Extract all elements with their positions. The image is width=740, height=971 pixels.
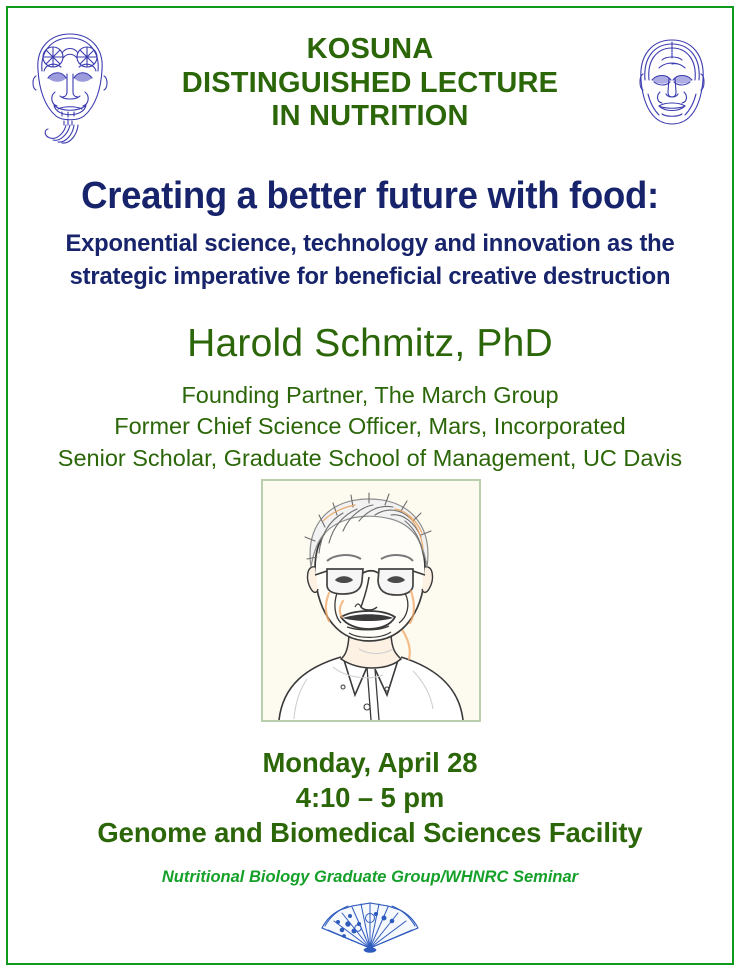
lecture-subtitle-line-2: strategic imperative for beneficial crea…	[29, 261, 712, 294]
lecture-poster: KOSUNA DISTINGUISHED LECTURE IN NUTRITIO…	[0, 0, 740, 971]
speaker-portrait	[261, 479, 481, 722]
speaker-name: Harold Schmitz, PhD	[0, 322, 740, 366]
lecture-subtitle: Exponential science, technology and inno…	[29, 228, 712, 293]
speaker-affiliation-1: Founding Partner, The March Group	[10, 380, 730, 411]
footer-note: Nutritional Biology Graduate Group/WHNRC…	[0, 868, 740, 887]
heading-line-2: DISTINGUISHED LECTURE	[0, 67, 740, 101]
speaker-affiliations: Founding Partner, The March Group Former…	[10, 380, 730, 474]
event-details: Monday, April 28 4:10 – 5 pm Genome and …	[7, 745, 732, 850]
heading-line-3: IN NUTRITION	[0, 100, 740, 134]
lecture-subtitle-line-1: Exponential science, technology and inno…	[29, 228, 712, 261]
heading-line-1: KOSUNA	[0, 33, 740, 67]
event-venue: Genome and Biomedical Sciences Facility	[7, 815, 732, 850]
speaker-affiliation-2: Former Chief Science Officer, Mars, Inco…	[10, 411, 730, 442]
folding-fan-icon	[314, 898, 426, 954]
event-date: Monday, April 28	[7, 745, 732, 780]
speaker-affiliation-3: Senior Scholar, Graduate School of Manag…	[10, 443, 730, 474]
lecture-title: Creating a better future with food:	[15, 175, 725, 218]
event-time: 4:10 – 5 pm	[7, 780, 732, 815]
poster-heading: KOSUNA DISTINGUISHED LECTURE IN NUTRITIO…	[0, 33, 740, 134]
